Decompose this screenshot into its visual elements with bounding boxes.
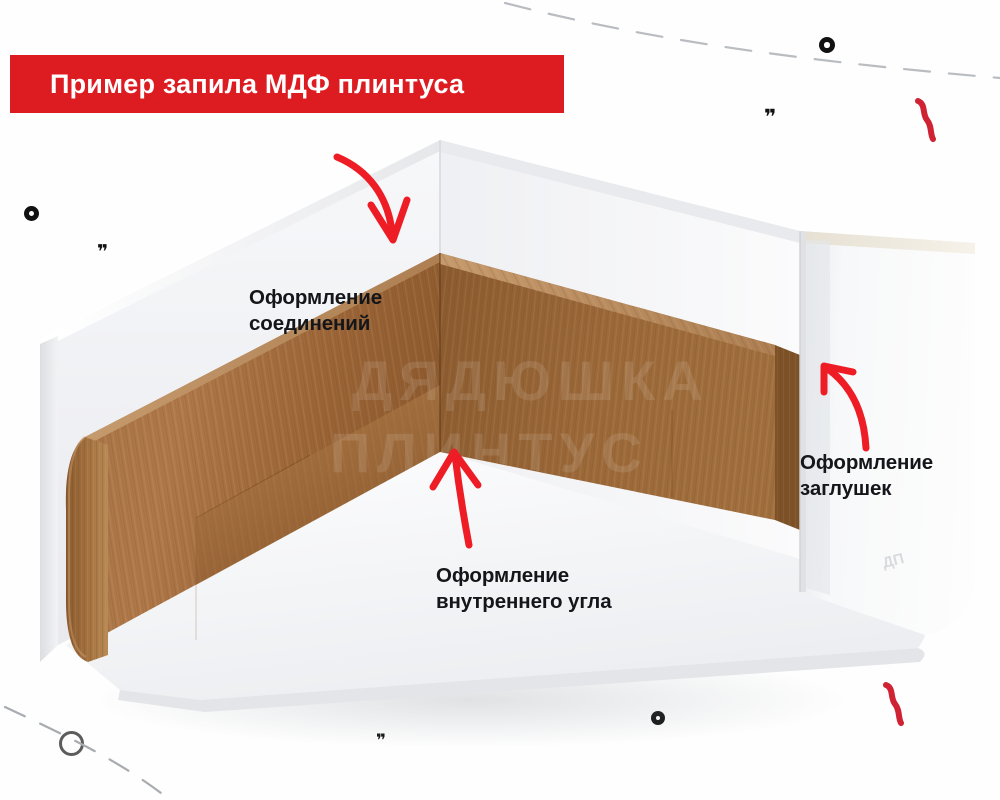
label-inner-corner: Оформление внутреннего угла — [436, 563, 612, 615]
wall-left-side-thickness — [40, 330, 58, 662]
plinth-corner-illustration: ДЯДЮШКА ПЛИНТУС ДП — [0, 0, 1000, 800]
banner-title: Пример запила МДФ плинтуса — [50, 69, 464, 100]
watermark-line-1: ДЯДЮШКА — [352, 349, 710, 412]
label-end-caps: Оформление заглушек — [800, 450, 933, 502]
end-cap-panel — [800, 231, 975, 635]
title-banner: Пример запила МДФ плинтуса — [10, 55, 564, 113]
poster-canvas: ❞ ❞ ❞ — [0, 0, 1000, 800]
label-joints: Оформление соединений — [249, 285, 382, 337]
end-cap-left-edge — [800, 231, 806, 592]
end-cap-inner-shade — [806, 240, 830, 595]
